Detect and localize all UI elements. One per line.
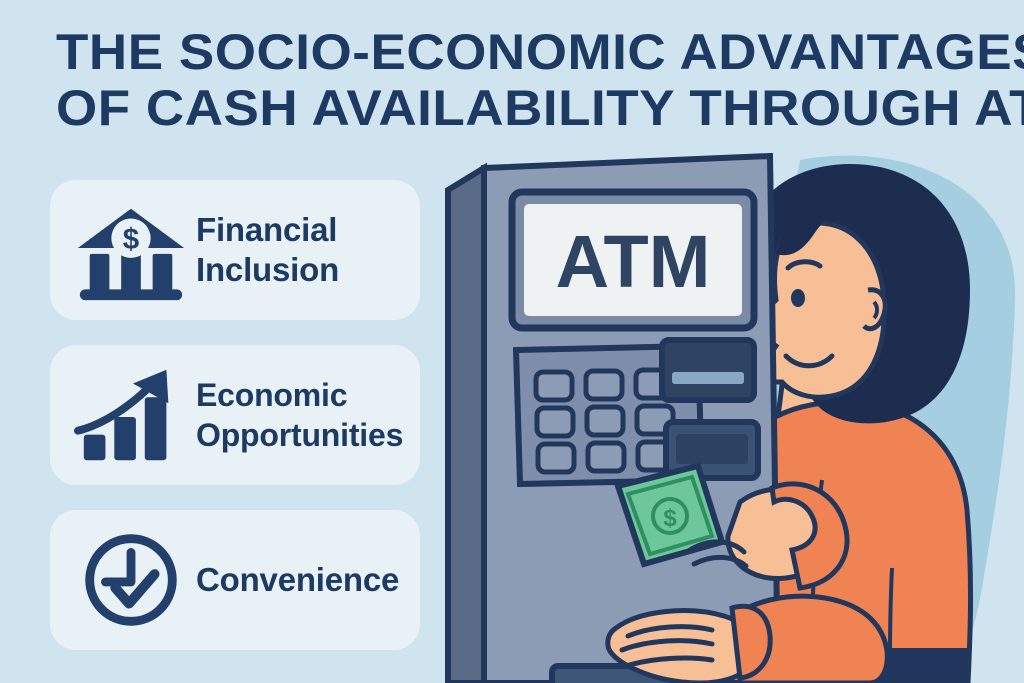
svg-text:$: $	[123, 223, 139, 256]
benefit-card-label: Economic Opportunities	[190, 375, 420, 455]
atm-machine: ATM	[448, 156, 778, 683]
title-line-1: THE SOCIO-ECONOMIC ADVANTAGES	[56, 24, 1024, 80]
benefit-label-line1: Convenience	[196, 561, 399, 598]
benefit-label-line1: Economic	[196, 377, 347, 413]
benefit-label-line2: Inclusion	[196, 250, 420, 290]
page-title: THE SOCIO-ECONOMIC ADVANTAGES OF CASH AV…	[56, 24, 986, 136]
atm-side-panel	[448, 168, 484, 683]
benefit-label-line2: Opportunities	[196, 415, 420, 455]
clock-check-icon	[72, 528, 190, 632]
benefit-card-label: Convenience	[190, 560, 420, 600]
benefit-label-line1: Financial	[196, 211, 337, 248]
title-line-2: OF CASH AVAILABILITY THROUGH ATMs	[56, 80, 1024, 136]
benefit-card-financial-inclusion: $ Financial Inclusion	[50, 180, 420, 320]
growth-chart-arrow-icon	[72, 363, 190, 467]
atm-card-slot	[662, 340, 754, 400]
atm-screen-text: ATM	[556, 220, 711, 303]
benefit-card-label: Financial Inclusion	[190, 210, 420, 290]
benefit-card-economic-opportunities: Economic Opportunities	[50, 345, 420, 485]
bank-dollar-icon: $	[72, 198, 190, 302]
banknote-symbol: $	[663, 505, 677, 532]
benefit-card-convenience: Convenience	[50, 510, 420, 650]
infographic-poster: THE SOCIO-ECONOMIC ADVANTAGES OF CASH AV…	[0, 0, 1024, 683]
atm-keypad	[536, 370, 674, 472]
woman-using-atm-illustration: ATM	[440, 150, 1024, 683]
